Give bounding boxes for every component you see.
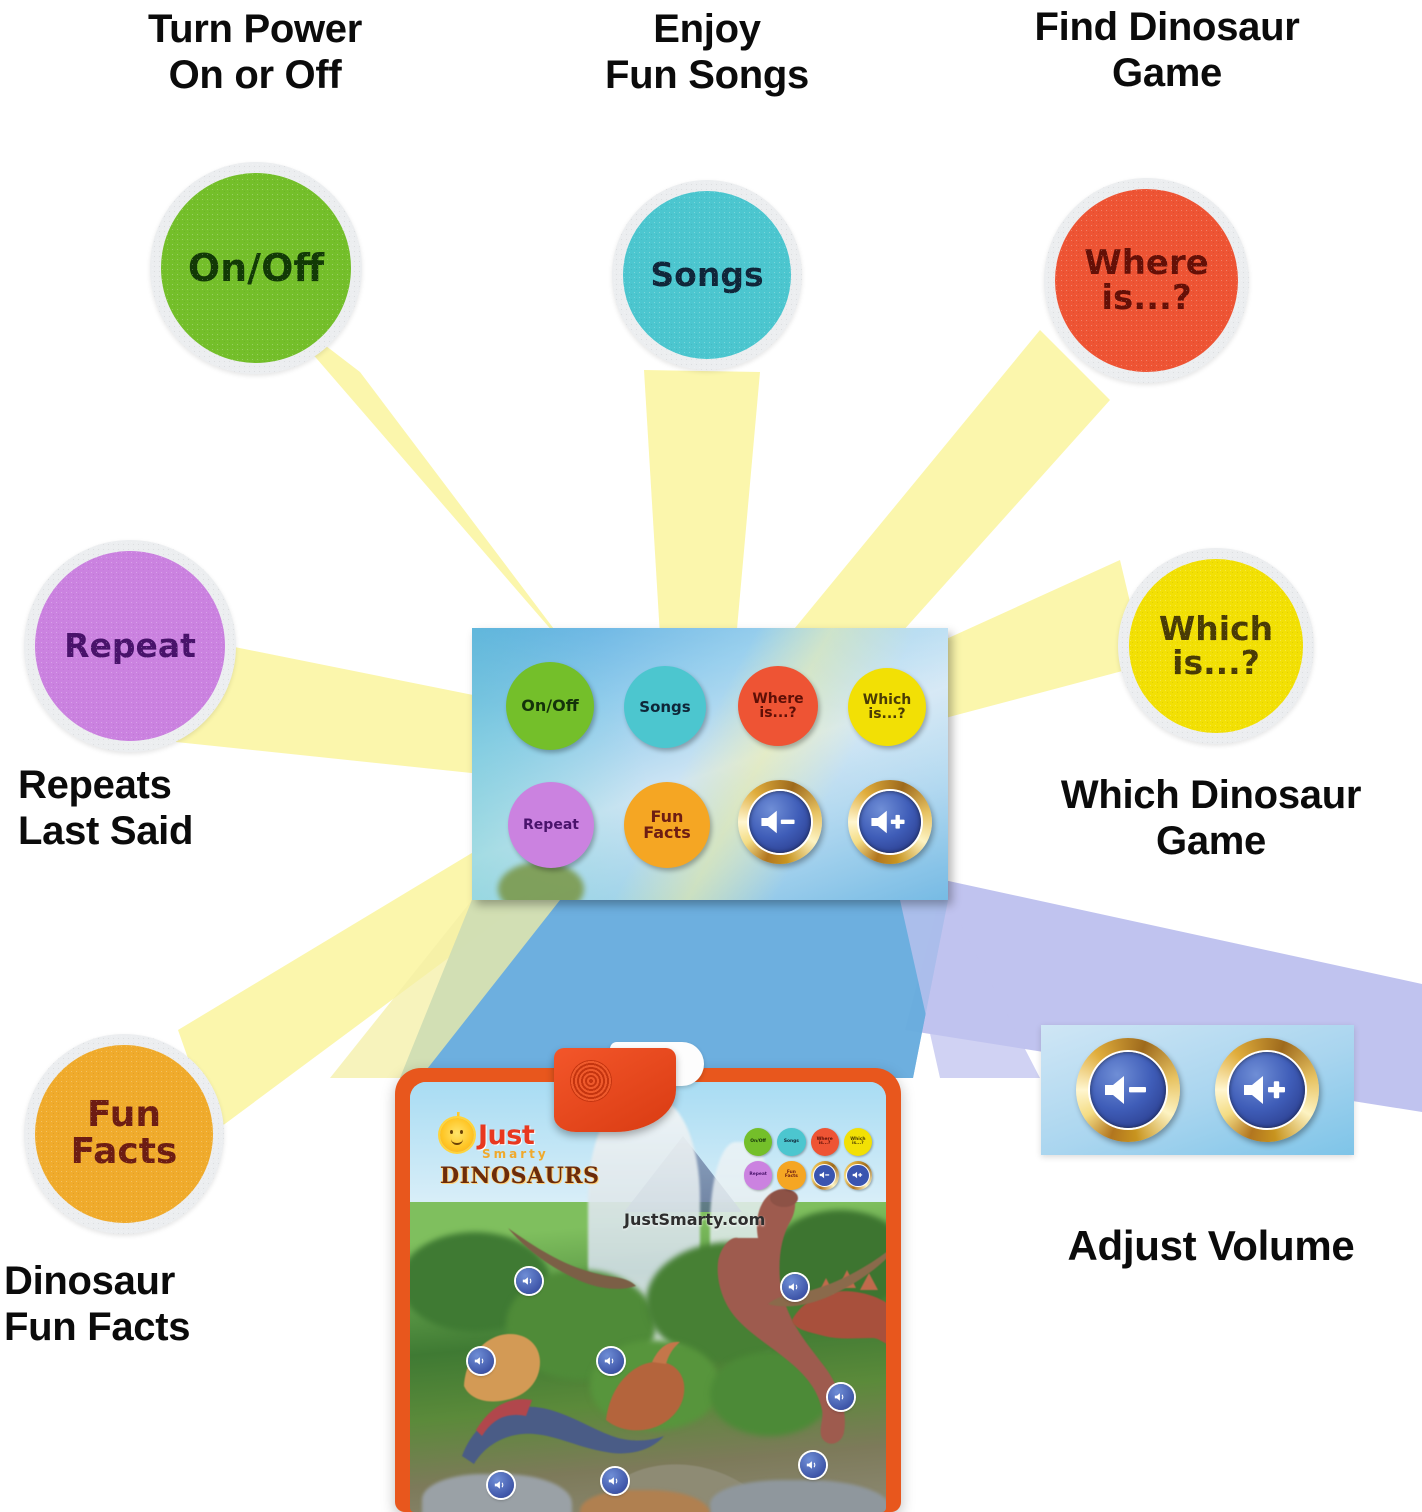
volume-up-icon bbox=[869, 808, 911, 836]
panel-which-is-line1: Which bbox=[863, 693, 911, 707]
panel-button-volume-down[interactable] bbox=[738, 780, 822, 864]
volume-callout-card bbox=[1041, 1025, 1354, 1155]
callout-button-songs[interactable]: Songs bbox=[612, 180, 802, 370]
panel-button-volume-up[interactable] bbox=[848, 780, 932, 864]
product-mat-border: Just Smarty DINOSAURS JustSmarty.com On/… bbox=[395, 1068, 901, 1512]
callout-songs-text: Songs bbox=[650, 258, 763, 292]
callout-volume-up-button[interactable] bbox=[1215, 1038, 1319, 1142]
callout-button-which-is[interactable]: Which is...? bbox=[1118, 548, 1314, 744]
mini-button-songs[interactable]: Songs bbox=[777, 1128, 805, 1156]
label-repeats-last-said: Repeats Last Said bbox=[18, 762, 438, 855]
callout-which-is-line2: is...? bbox=[1172, 646, 1260, 680]
artwork-hotspot-speaker[interactable] bbox=[828, 1384, 854, 1410]
callout-button-where-is[interactable]: Where is...? bbox=[1044, 178, 1249, 383]
callout-volume-down-button[interactable] bbox=[1076, 1038, 1180, 1142]
panel-button-fun-facts[interactable]: Fun Facts bbox=[624, 782, 710, 868]
artwork-dinosaur-pterodactyl-right bbox=[750, 1232, 886, 1328]
mini-button-which-is[interactable]: Which is...? bbox=[844, 1128, 872, 1156]
panel-where-is-line2: is...? bbox=[759, 706, 796, 720]
artwork-hotspot-speaker[interactable] bbox=[516, 1268, 542, 1294]
speaker-icon bbox=[608, 1476, 622, 1486]
callout-fun-facts-line2: Facts bbox=[71, 1134, 178, 1171]
product-photo-dinosaur-mat: Just Smarty DINOSAURS JustSmarty.com On/… bbox=[374, 1042, 922, 1512]
speaker-icon bbox=[604, 1356, 618, 1366]
speaker-icon bbox=[806, 1460, 820, 1470]
panel-fun-facts-line2: Facts bbox=[643, 825, 690, 841]
brand-just-text: Just bbox=[478, 1120, 534, 1151]
panel-which-is-line2: is...? bbox=[868, 707, 905, 721]
panel-button-repeat[interactable]: Repeat bbox=[508, 782, 594, 868]
label-dinosaur-fun-facts: Dinosaur Fun Facts bbox=[0, 1258, 404, 1351]
mini-button-volume-up[interactable] bbox=[844, 1161, 872, 1189]
panel-on-off-text: On/Off bbox=[521, 698, 578, 714]
volume-up-icon bbox=[852, 1171, 864, 1179]
artwork-hotspot-speaker[interactable] bbox=[598, 1348, 624, 1374]
speaker-icon bbox=[834, 1392, 848, 1402]
panel-button-which-is[interactable]: Which is...? bbox=[848, 668, 926, 746]
callout-where-is-line2: is...? bbox=[1101, 281, 1191, 316]
product-name-text: DINOSAURS bbox=[440, 1163, 599, 1189]
volume-down-icon bbox=[1102, 1073, 1154, 1107]
label-find-dinosaur-game: Find Dinosaur Game bbox=[932, 4, 1402, 97]
panel-button-where-is[interactable]: Where is...? bbox=[738, 666, 818, 746]
mini-button-where-is[interactable]: Where is...? bbox=[811, 1128, 839, 1156]
artwork-dinosaur-parasaurolophus bbox=[588, 1328, 708, 1438]
callout-repeat-text: Repeat bbox=[64, 629, 196, 663]
artwork-dinosaur-pterodactyl-left bbox=[502, 1218, 642, 1308]
panel-where-is-line1: Where bbox=[752, 692, 803, 706]
speaker-icon bbox=[788, 1282, 802, 1292]
product-mat-artwork: Just Smarty DINOSAURS JustSmarty.com On/… bbox=[410, 1082, 886, 1512]
speaker-icon bbox=[474, 1356, 488, 1366]
sun-logo-icon bbox=[440, 1118, 474, 1152]
infographic-stage: Turn Power On or Off Enjoy Fun Songs Fin… bbox=[0, 0, 1422, 1500]
product-website-text: JustSmarty.com bbox=[624, 1210, 765, 1229]
label-which-dinosaur-game: Which Dinosaur Game bbox=[1000, 772, 1422, 865]
control-panel-closeup: On/Off Songs Where is...? Which is...? R… bbox=[472, 628, 948, 900]
callout-button-on-off[interactable]: On/Off bbox=[150, 162, 362, 374]
callout-button-fun-facts[interactable]: Fun Facts bbox=[24, 1034, 224, 1234]
callout-which-is-line1: Which bbox=[1159, 612, 1273, 646]
speaker-pod-body bbox=[554, 1048, 676, 1132]
artwork-hotspot-speaker[interactable] bbox=[800, 1452, 826, 1478]
label-turn-power: Turn Power On or Off bbox=[0, 6, 510, 99]
callout-where-is-line1: Where bbox=[1084, 246, 1209, 281]
brand-smarty-text: Smarty bbox=[482, 1147, 599, 1161]
artwork-hotspot-speaker[interactable] bbox=[488, 1472, 514, 1498]
mini-button-fun-facts[interactable]: Fun Facts bbox=[777, 1161, 805, 1189]
panel-songs-text: Songs bbox=[639, 700, 690, 715]
mini-button-on-off[interactable]: On/Off bbox=[744, 1128, 772, 1156]
speaker-icon bbox=[494, 1480, 508, 1490]
product-mini-control-panel: On/Off Songs Where is...? Which is...? R… bbox=[744, 1128, 872, 1190]
artwork-rock bbox=[710, 1480, 886, 1512]
panel-button-on-off[interactable]: On/Off bbox=[506, 662, 594, 750]
label-adjust-volume: Adjust Volume bbox=[1000, 1222, 1422, 1271]
callout-on-off-text: On/Off bbox=[188, 249, 324, 288]
callout-button-repeat[interactable]: Repeat bbox=[24, 540, 236, 752]
product-speaker-pod: Just Smarty bbox=[554, 1038, 704, 1134]
speaker-icon bbox=[522, 1276, 536, 1286]
volume-down-icon bbox=[759, 808, 801, 836]
mini-button-volume-down[interactable] bbox=[811, 1161, 839, 1189]
artwork-hotspot-speaker[interactable] bbox=[468, 1348, 494, 1374]
panel-button-songs[interactable]: Songs bbox=[624, 666, 706, 748]
label-enjoy-fun-songs: Enjoy Fun Songs bbox=[502, 6, 912, 99]
volume-up-icon bbox=[1241, 1073, 1293, 1107]
panel-repeat-text: Repeat bbox=[523, 818, 579, 832]
mini-button-repeat[interactable]: Repeat bbox=[744, 1161, 772, 1189]
callout-fun-facts-line1: Fun bbox=[87, 1097, 161, 1134]
artwork-hotspot-speaker[interactable] bbox=[782, 1274, 808, 1300]
volume-down-icon bbox=[819, 1171, 831, 1179]
speaker-grill-icon bbox=[570, 1060, 612, 1102]
beam-to-songs bbox=[644, 370, 760, 640]
artwork-hotspot-speaker[interactable] bbox=[602, 1468, 628, 1494]
